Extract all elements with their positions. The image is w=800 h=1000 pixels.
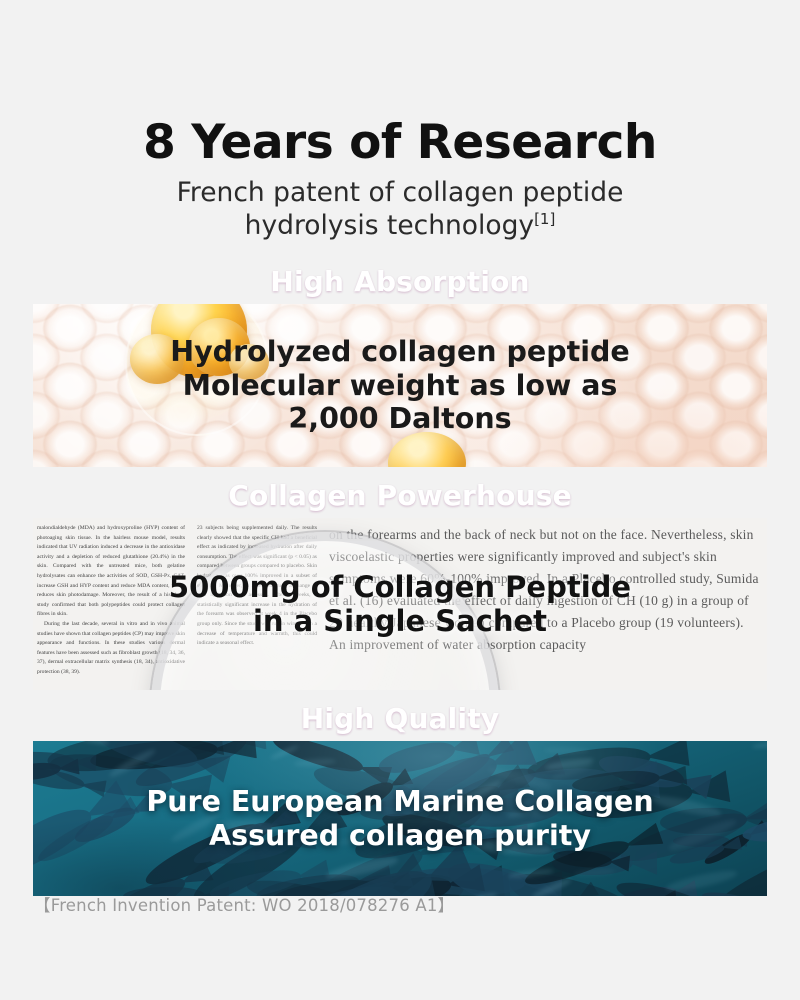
page-title: 8 Years of Research bbox=[0, 118, 800, 167]
panel-line: Hydrolyzed collagen peptide bbox=[170, 335, 630, 369]
band-title-high-absorption: High Absorption bbox=[270, 265, 529, 298]
paper-column-1: malondialdehyde (MDA) and hydroxyproline… bbox=[37, 524, 185, 690]
panel-line: 5000mg of Collagen Peptide bbox=[169, 570, 631, 604]
page-subtitle: French patent of collagen peptide hydrol… bbox=[0, 177, 800, 242]
band-collagen-powerhouse: Collagen Powerhouse bbox=[33, 473, 767, 518]
panel-line: Pure European Marine Collagen bbox=[146, 785, 653, 819]
subtitle-line-2: hydrolysis technology bbox=[245, 210, 534, 241]
panel-text-collagen-powerhouse: 5000mg of Collagen Peptide in a Single S… bbox=[169, 570, 631, 638]
feature-sections: High Absorption Hydrolyzed collagen pept… bbox=[33, 259, 767, 902]
panel-line: in a Single Sachet bbox=[169, 604, 631, 638]
section-high-quality: High Quality Pure European Marine Collag… bbox=[33, 696, 767, 896]
footnote-marker: [1] bbox=[534, 210, 555, 228]
paper-body-text: During the last decade, several in vitro… bbox=[37, 620, 185, 678]
panel-line: Assured collagen purity bbox=[146, 819, 653, 853]
panel-text-high-absorption: Hydrolyzed collagen peptide Molecular we… bbox=[170, 335, 630, 436]
patent-footnote: 【French Invention Patent: WO 2018/078276… bbox=[34, 892, 454, 916]
band-high-absorption: High Absorption bbox=[33, 259, 767, 304]
band-title-high-quality: High Quality bbox=[301, 702, 500, 735]
panel-line: 2,000 Daltons bbox=[170, 402, 630, 436]
panel-high-quality: Pure European Marine Collagen Assured co… bbox=[33, 741, 767, 896]
subtitle-line-1: French patent of collagen peptide bbox=[177, 177, 624, 208]
panel-high-absorption: Hydrolyzed collagen peptide Molecular we… bbox=[33, 304, 767, 467]
header: 8 Years of Research French patent of col… bbox=[0, 0, 800, 242]
panel-collagen-powerhouse: malondialdehyde (MDA) and hydroxyproline… bbox=[33, 518, 767, 690]
panel-line: Molecular weight as low as bbox=[170, 369, 630, 403]
infographic-page: 8 Years of Research French patent of col… bbox=[0, 0, 800, 1000]
band-title-collagen-powerhouse: Collagen Powerhouse bbox=[228, 479, 572, 512]
paper-body-text: malondialdehyde (MDA) and hydroxyproline… bbox=[37, 524, 185, 620]
band-high-quality: High Quality bbox=[33, 696, 767, 741]
panel-text-high-quality: Pure European Marine Collagen Assured co… bbox=[146, 785, 653, 852]
section-high-absorption: High Absorption Hydrolyzed collagen pept… bbox=[33, 259, 767, 467]
section-collagen-powerhouse: Collagen Powerhouse malondialdehyde (MDA… bbox=[33, 473, 767, 690]
